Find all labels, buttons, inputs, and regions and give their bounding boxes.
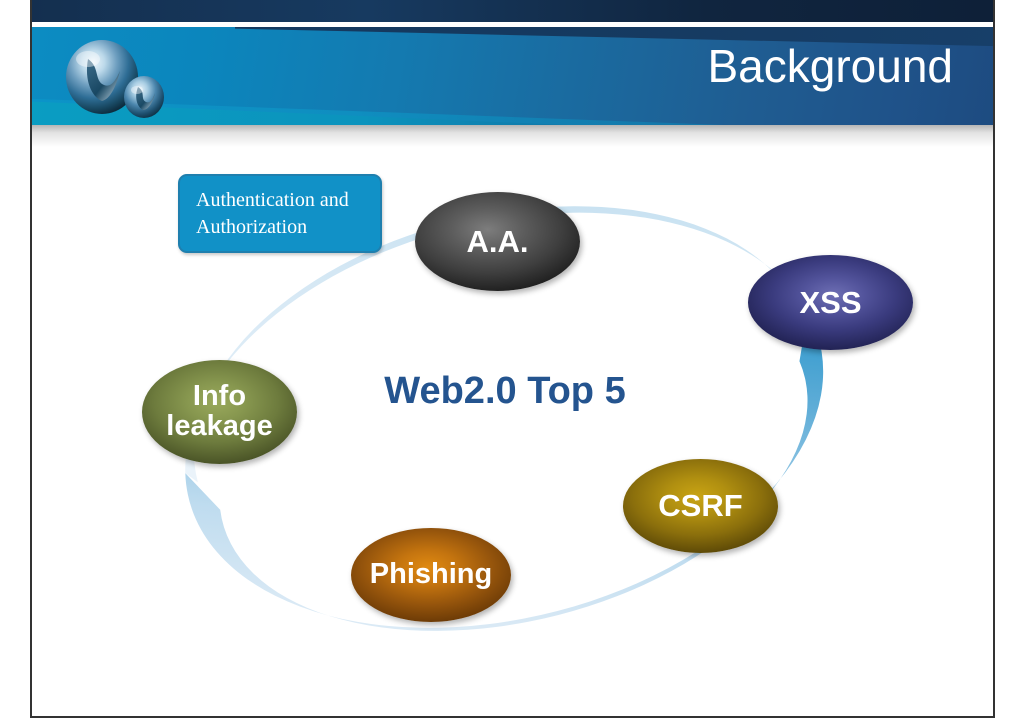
node-info-label-line-1: Info: [166, 382, 272, 412]
node-aa-label: A.A.: [467, 226, 529, 258]
node-phishing[interactable]: Phishing: [351, 528, 511, 622]
node-phishing-label: Phishing: [370, 560, 492, 590]
callout-line-1: Authentication: [196, 189, 315, 211]
node-xss[interactable]: XSS: [748, 255, 913, 350]
slide-canvas: Background: [0, 0, 1024, 724]
node-xss-label: XSS: [799, 287, 861, 319]
node-info-label-line-2: leakage: [166, 412, 272, 442]
page-title: Background: [708, 39, 954, 93]
callout-authentication-authorization: Authentication and Authorization: [178, 174, 382, 253]
slide-header-band: Background: [30, 27, 995, 125]
top-navy-bar: [30, 0, 995, 22]
node-aa[interactable]: A.A.: [415, 192, 580, 291]
node-csrf-label: CSRF: [658, 490, 742, 522]
diagram-center-label: Web2.0 Top 5: [360, 370, 650, 413]
node-info-leakage[interactable]: Info leakage: [142, 360, 297, 464]
node-csrf[interactable]: CSRF: [623, 459, 778, 553]
sphere-logo-icon: [58, 37, 188, 123]
